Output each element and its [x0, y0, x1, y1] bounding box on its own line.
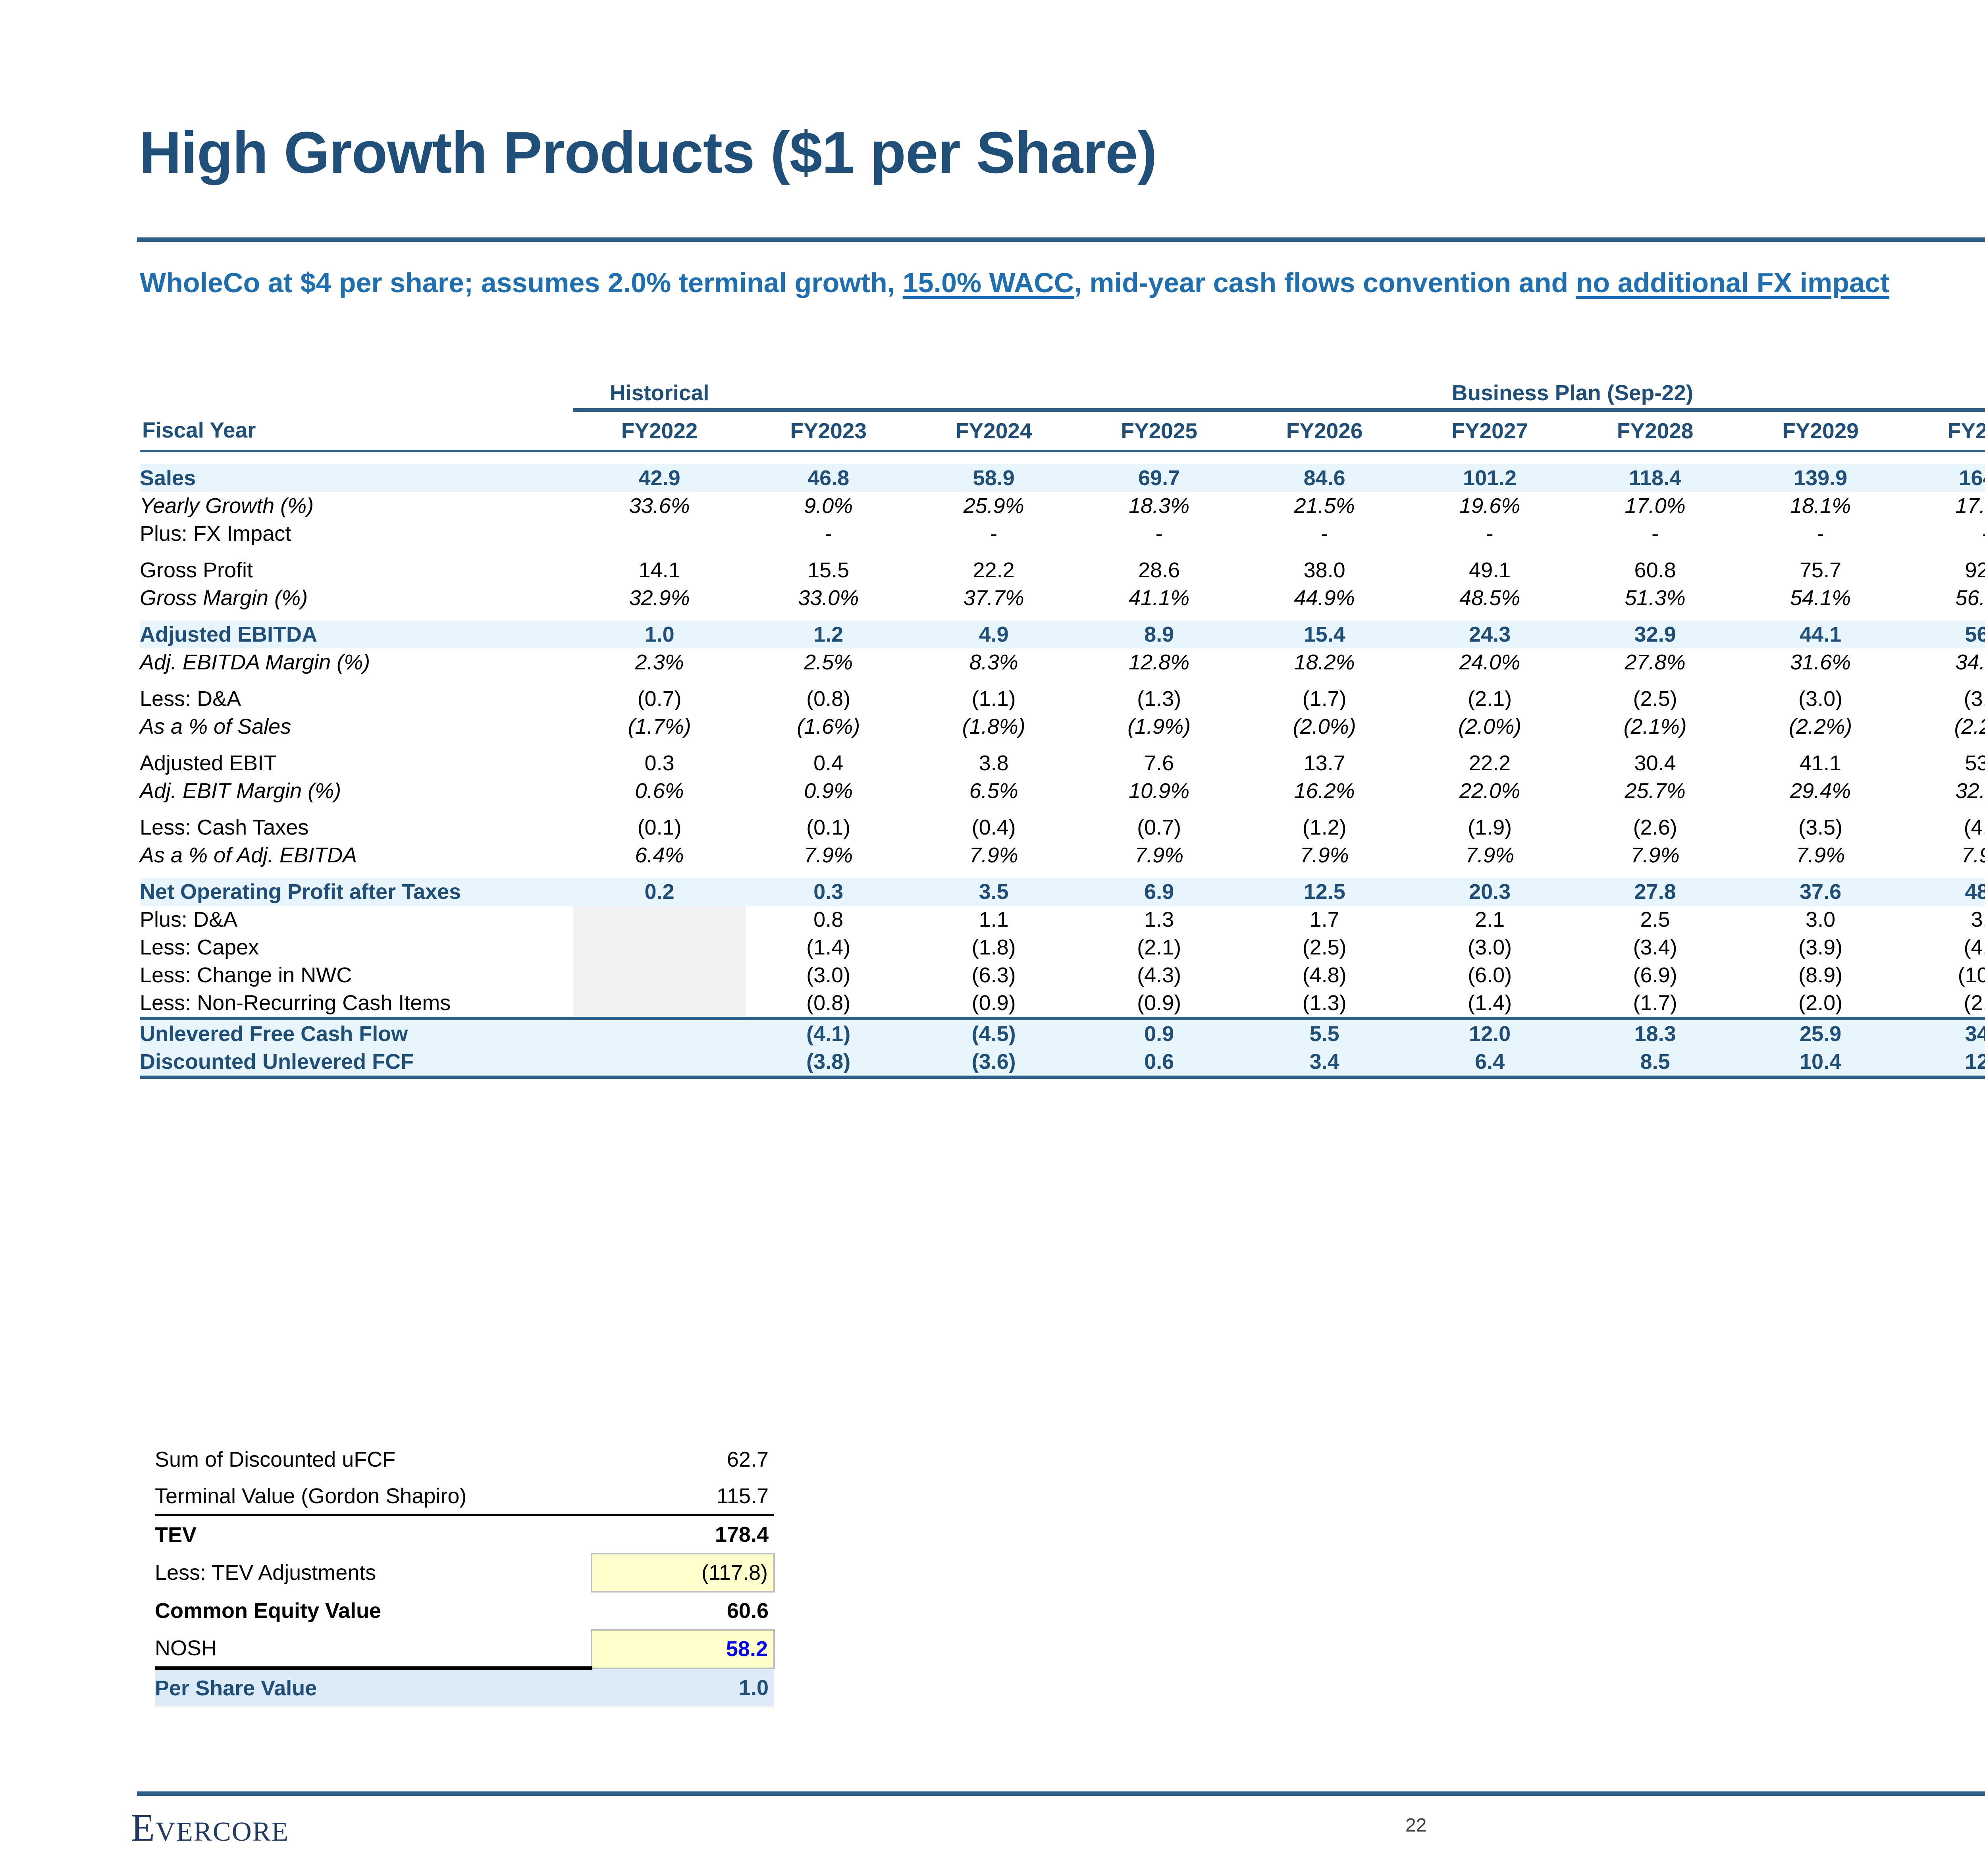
cell-fy2025: 69.7 — [1076, 464, 1241, 492]
col-header-fy2030: FY2030 — [1903, 410, 1985, 451]
cell-fy2030: 48.6 — [1903, 878, 1985, 906]
cell-fy2023: 46.8 — [746, 464, 911, 492]
table-row: Less: D&A(0.7)(0.8)(1.1)(1.3)(1.7)(2.1)(… — [140, 685, 1985, 713]
cell-fy2030: 56.3% — [1903, 584, 1985, 612]
valuation-row: Common Equity Value60.6 — [155, 1592, 774, 1630]
cell-fy2023: 7.9% — [746, 841, 911, 869]
table-row: Sales42.946.858.969.784.6101.2118.4139.9… — [140, 464, 1985, 492]
cell-fy2029: (2.0) — [1738, 989, 1903, 1018]
cell-fy2025: 6.9 — [1076, 878, 1241, 906]
table-row: Gross Profit14.115.522.228.638.049.160.8… — [140, 556, 1985, 584]
cell-fy2030: 17.4% — [1903, 492, 1985, 520]
valuation-row: TEV178.4 — [155, 1515, 774, 1554]
cell-fy2028: - — [1573, 520, 1738, 548]
cell-fy2028: 7.9% — [1573, 841, 1738, 869]
valuation-value: 60.6 — [592, 1592, 774, 1630]
table-row: Adj. EBIT Margin (%)0.6%0.9%6.5%10.9%16.… — [140, 777, 1985, 805]
col-header-fy2029: FY2029 — [1738, 410, 1903, 451]
row-label: Adjusted EBITDA — [140, 621, 573, 648]
cell-fy2024: (4.5) — [911, 1018, 1076, 1048]
row-spacer — [140, 805, 1985, 814]
valuation-row: Per Share Value1.0 — [155, 1668, 774, 1707]
row-label: Unlevered Free Cash Flow — [140, 1018, 573, 1048]
cell-fy2022 — [573, 989, 746, 1018]
valuation-value: 178.4 — [592, 1515, 774, 1554]
cell-fy2029: 44.1 — [1738, 621, 1903, 648]
cell-fy2029: (8.9) — [1738, 961, 1903, 989]
cell-fy2030: 7.9% — [1903, 841, 1985, 869]
valuation-row: Sum of Discounted uFCF62.7 — [155, 1441, 774, 1478]
cell-fy2030: 56.7 — [1903, 621, 1985, 648]
cell-fy2030: (2.4) — [1903, 989, 1985, 1018]
valuation-label: NOSH — [155, 1630, 592, 1668]
cell-fy2022: 0.6% — [573, 777, 746, 805]
cell-fy2025: (0.9) — [1076, 989, 1241, 1018]
row-label: Plus: FX Impact — [140, 520, 573, 548]
table-row: Plus: FX Impact---------- — [140, 520, 1985, 548]
cell-fy2024: 58.9 — [911, 464, 1076, 492]
cell-fy2022: 6.4% — [573, 841, 746, 869]
cell-fy2030: 92.6 — [1903, 556, 1985, 584]
cell-fy2029: 25.9 — [1738, 1018, 1903, 1048]
row-spacer — [140, 548, 1985, 556]
cell-fy2027: 19.6% — [1407, 492, 1572, 520]
col-header-fy2027: FY2027 — [1407, 410, 1572, 451]
row-spacer — [140, 676, 1985, 685]
cell-fy2026: 5.5 — [1242, 1018, 1407, 1048]
cell-fy2029: 41.1 — [1738, 749, 1903, 777]
col-header-fy2022: FY2022 — [573, 410, 746, 451]
cell-fy2022: 33.6% — [573, 492, 746, 520]
cell-fy2027: (3.0) — [1407, 933, 1572, 961]
cell-fy2023: (1.4) — [746, 933, 911, 961]
cell-fy2024: - — [911, 520, 1076, 548]
footer-divider — [137, 1791, 1985, 1796]
cell-fy2030: 34.5% — [1903, 648, 1985, 676]
group-header-business-plan: Business Plan (Sep-22) — [746, 377, 1985, 410]
cell-fy2022 — [573, 933, 746, 961]
row-label: Sales — [140, 464, 573, 492]
cell-fy2023: 0.4 — [746, 749, 911, 777]
evercore-logo: Evercore — [131, 1806, 289, 1850]
valuation-value: 115.7 — [592, 1478, 774, 1515]
row-spacer — [140, 612, 1985, 621]
cell-fy2030: 53.1 — [1903, 749, 1985, 777]
cell-fy2029: (3.0) — [1738, 685, 1903, 713]
cell-fy2023: 33.0% — [746, 584, 911, 612]
cell-fy2022 — [573, 1048, 746, 1077]
cell-fy2023: (3.8) — [746, 1048, 911, 1077]
cell-fy2028: 51.3% — [1573, 584, 1738, 612]
valuation-label: Common Equity Value — [155, 1592, 592, 1630]
table-row: Unlevered Free Cash Flow(4.1)(4.5)0.95.5… — [140, 1018, 1985, 1048]
cell-fy2024: 8.3% — [911, 648, 1076, 676]
valuation-label: Terminal Value (Gordon Shapiro) — [155, 1478, 592, 1515]
cell-fy2029: 139.9 — [1738, 464, 1903, 492]
cell-fy2028: 17.0% — [1573, 492, 1738, 520]
col-header-fy2024: FY2024 — [911, 410, 1076, 451]
cell-fy2028: (2.1%) — [1573, 713, 1738, 740]
valuation-label: TEV — [155, 1515, 592, 1554]
cell-fy2027: 49.1 — [1407, 556, 1572, 584]
valuation-value: 62.7 — [592, 1441, 774, 1478]
cell-fy2026: 12.5 — [1242, 878, 1407, 906]
cell-fy2029: 75.7 — [1738, 556, 1903, 584]
cell-fy2024: (0.9) — [911, 989, 1076, 1018]
cell-fy2028: 18.3 — [1573, 1018, 1738, 1048]
cell-fy2026: 84.6 — [1242, 464, 1407, 492]
cell-fy2026: 18.2% — [1242, 648, 1407, 676]
cell-fy2026: 15.4 — [1242, 621, 1407, 648]
cell-fy2025: 10.9% — [1076, 777, 1241, 805]
cell-fy2024: (1.8%) — [911, 713, 1076, 740]
dcf-table: HistoricalBusiness Plan (Sep-22)CAGR '22… — [140, 377, 1985, 1079]
cell-fy2030: (2.2%) — [1903, 713, 1985, 740]
col-header-fy2026: FY2026 — [1242, 410, 1407, 451]
cell-fy2026: 44.9% — [1242, 584, 1407, 612]
row-label: Less: Cash Taxes — [140, 814, 573, 841]
cell-fy2025: 8.9 — [1076, 621, 1241, 648]
row-spacer — [140, 740, 1985, 749]
cell-fy2022: (0.1) — [573, 814, 746, 841]
cell-fy2027: - — [1407, 520, 1572, 548]
cell-fy2027: (6.0) — [1407, 961, 1572, 989]
col-header-fy2025: FY2025 — [1076, 410, 1241, 451]
cell-fy2022 — [573, 1018, 746, 1048]
row-label: Adj. EBITDA Margin (%) — [140, 648, 573, 676]
table-row: Less: Non-Recurring Cash Items(0.8)(0.9)… — [140, 989, 1985, 1018]
valuation-row: Terminal Value (Gordon Shapiro)115.7 — [155, 1478, 774, 1515]
cell-fy2022 — [573, 961, 746, 989]
col-header-fiscal-year: Fiscal Year — [140, 410, 573, 451]
cell-fy2026: 21.5% — [1242, 492, 1407, 520]
cell-fy2030: 3.6 — [1903, 906, 1985, 933]
cell-fy2030: (4.5) — [1903, 814, 1985, 841]
cell-fy2025: (1.9%) — [1076, 713, 1241, 740]
cell-fy2027: 24.3 — [1407, 621, 1572, 648]
cell-fy2025: (2.1) — [1076, 933, 1241, 961]
row-label: Plus: D&A — [140, 906, 573, 933]
cell-fy2022: 2.3% — [573, 648, 746, 676]
cell-fy2027: (1.4) — [1407, 989, 1572, 1018]
cell-fy2025: (1.3) — [1076, 685, 1241, 713]
row-label: Gross Margin (%) — [140, 584, 573, 612]
cell-fy2023: 15.5 — [746, 556, 911, 584]
table-row: Less: Capex(1.4)(1.8)(2.1)(2.5)(3.0)(3.4… — [140, 933, 1985, 961]
cell-fy2023: (0.1) — [746, 814, 911, 841]
slide-canvas: High Growth Products ($1 per Share) Whol… — [0, 0, 1985, 1876]
cell-fy2022 — [573, 520, 746, 548]
cell-fy2027: 48.5% — [1407, 584, 1572, 612]
cell-fy2028: 25.7% — [1573, 777, 1738, 805]
cell-fy2028: 30.4 — [1573, 749, 1738, 777]
cell-fy2023: (0.8) — [746, 989, 911, 1018]
cell-fy2028: 118.4 — [1573, 464, 1738, 492]
cell-fy2023: (1.6%) — [746, 713, 911, 740]
subtitle: WholeCo at $4 per share; assumes 2.0% te… — [140, 267, 1889, 299]
cell-fy2023: (0.8) — [746, 685, 911, 713]
table-row: Net Operating Profit after Taxes0.20.33.… — [140, 878, 1985, 906]
group-header-row: HistoricalBusiness Plan (Sep-22)CAGR '22… — [140, 377, 1985, 410]
cell-fy2027: 2.1 — [1407, 906, 1572, 933]
cell-fy2030: (10.6) — [1903, 961, 1985, 989]
cell-fy2026: (1.2) — [1242, 814, 1407, 841]
cell-fy2030: 32.3% — [1903, 777, 1985, 805]
cell-fy2026: - — [1242, 520, 1407, 548]
cell-fy2028: 32.9 — [1573, 621, 1738, 648]
cell-fy2022: 0.2 — [573, 878, 746, 906]
cell-fy2025: (4.3) — [1076, 961, 1241, 989]
row-label: Less: Change in NWC — [140, 961, 573, 989]
cell-fy2027: 20.3 — [1407, 878, 1572, 906]
valuation-value[interactable]: (117.8) — [592, 1554, 774, 1592]
cell-fy2025: 12.8% — [1076, 648, 1241, 676]
cell-fy2027: (1.9) — [1407, 814, 1572, 841]
row-label: Yearly Growth (%) — [140, 492, 573, 520]
row-label: Discounted Unlevered FCF — [140, 1048, 573, 1077]
cell-fy2022: 42.9 — [573, 464, 746, 492]
cell-fy2022: 32.9% — [573, 584, 746, 612]
row-label: Gross Profit — [140, 556, 573, 584]
row-spacer — [140, 869, 1985, 878]
table-row: Less: Change in NWC(3.0)(6.3)(4.3)(4.8)(… — [140, 961, 1985, 989]
cell-fy2022: 14.1 — [573, 556, 746, 584]
cell-fy2023: 2.5% — [746, 648, 911, 676]
cell-fy2026: 13.7 — [1242, 749, 1407, 777]
table-row: Gross Margin (%)32.9%33.0%37.7%41.1%44.9… — [140, 584, 1985, 612]
valuation-row: Less: TEV Adjustments(117.8) — [155, 1554, 774, 1592]
page-title: High Growth Products ($1 per Share) — [139, 119, 1157, 187]
cell-fy2026: 38.0 — [1242, 556, 1407, 584]
cell-fy2029: 18.1% — [1738, 492, 1903, 520]
cell-fy2023: (4.1) — [746, 1018, 911, 1048]
table-row: Discounted Unlevered FCF(3.8)(3.6)0.63.4… — [140, 1048, 1985, 1077]
cell-fy2026: (1.3) — [1242, 989, 1407, 1018]
cell-fy2022 — [573, 906, 746, 933]
row-label: Less: D&A — [140, 685, 573, 713]
cell-fy2023: 0.9% — [746, 777, 911, 805]
cell-fy2028: (3.4) — [1573, 933, 1738, 961]
cell-fy2024: (1.1) — [911, 685, 1076, 713]
cell-fy2027: (2.0%) — [1407, 713, 1572, 740]
cell-fy2024: 7.9% — [911, 841, 1076, 869]
cell-fy2026: (2.5) — [1242, 933, 1407, 961]
cell-fy2027: 24.0% — [1407, 648, 1572, 676]
row-label: Net Operating Profit after Taxes — [140, 878, 573, 906]
group-header-blank — [140, 377, 573, 410]
cell-fy2024: 3.8 — [911, 749, 1076, 777]
header-spacer — [140, 451, 1985, 464]
year-header-row: Fiscal YearFY2022FY2023FY2024FY2025FY202… — [140, 410, 1985, 451]
cell-fy2024: 3.5 — [911, 878, 1076, 906]
row-label: Adj. EBIT Margin (%) — [140, 777, 573, 805]
cell-fy2027: 22.0% — [1407, 777, 1572, 805]
table-row: Adj. EBITDA Margin (%)2.3%2.5%8.3%12.8%1… — [140, 648, 1985, 676]
cell-fy2027: 7.9% — [1407, 841, 1572, 869]
table-row: Plus: D&A0.81.11.31.72.12.53.03.64.24.8 — [140, 906, 1985, 933]
cell-fy2029: (3.9) — [1738, 933, 1903, 961]
cell-fy2029: 54.1% — [1738, 584, 1903, 612]
cell-fy2029: 10.4 — [1738, 1048, 1903, 1077]
cell-fy2029: 7.9% — [1738, 841, 1903, 869]
cell-fy2025: 0.6 — [1076, 1048, 1241, 1077]
valuation-label: Sum of Discounted uFCF — [155, 1441, 592, 1478]
cell-fy2027: 22.2 — [1407, 749, 1572, 777]
cell-fy2023: 9.0% — [746, 492, 911, 520]
cell-fy2028: 27.8% — [1573, 648, 1738, 676]
row-label: Adjusted EBIT — [140, 749, 573, 777]
table-row: Yearly Growth (%)33.6%9.0%25.9%18.3%21.5… — [140, 492, 1985, 520]
cell-fy2026: (1.7) — [1242, 685, 1407, 713]
cell-fy2030: - — [1903, 520, 1985, 548]
cell-fy2029: 37.6 — [1738, 878, 1903, 906]
cell-fy2028: (1.7) — [1573, 989, 1738, 1018]
cell-fy2030: 164.3 — [1903, 464, 1985, 492]
cell-fy2026: 1.7 — [1242, 906, 1407, 933]
subtitle-emphasis-3: no additional FX impact — [1576, 267, 1889, 298]
cell-fy2024: 25.9% — [911, 492, 1076, 520]
cell-fy2024: 6.5% — [911, 777, 1076, 805]
cell-fy2027: (2.1) — [1407, 685, 1572, 713]
cell-fy2025: 7.9% — [1076, 841, 1241, 869]
table-row: Adjusted EBITDA1.01.24.98.915.424.332.94… — [140, 621, 1985, 648]
cell-fy2028: (2.5) — [1573, 685, 1738, 713]
valuation-label: Per Share Value — [155, 1668, 592, 1707]
valuation-summary-table: Sum of Discounted uFCF62.7Terminal Value… — [155, 1441, 775, 1706]
cell-fy2022: 0.3 — [573, 749, 746, 777]
valuation-label: Less: TEV Adjustments — [155, 1554, 592, 1592]
cell-fy2022: (0.7) — [573, 685, 746, 713]
cell-fy2024: (0.4) — [911, 814, 1076, 841]
cell-fy2026: (2.0%) — [1242, 713, 1407, 740]
cell-fy2029: 3.0 — [1738, 906, 1903, 933]
cell-fy2025: 1.3 — [1076, 906, 1241, 933]
cell-fy2025: 18.3% — [1076, 492, 1241, 520]
valuation-value[interactable]: 58.2 — [592, 1630, 774, 1668]
row-label: Less: Non-Recurring Cash Items — [140, 989, 573, 1018]
cell-fy2025: 28.6 — [1076, 556, 1241, 584]
subtitle-emphasis-1: 15.0% WACC — [903, 267, 1074, 298]
cell-fy2024: (3.6) — [911, 1048, 1076, 1077]
cell-fy2030: (4.4) — [1903, 933, 1985, 961]
cell-fy2030: 12.2 — [1903, 1048, 1985, 1077]
cell-fy2024: (6.3) — [911, 961, 1076, 989]
row-label: As a % of Adj. EBITDA — [140, 841, 573, 869]
valuation-row: NOSH58.2 — [155, 1630, 774, 1668]
cell-fy2029: (2.2%) — [1738, 713, 1903, 740]
title-divider — [137, 237, 1985, 242]
cell-fy2025: - — [1076, 520, 1241, 548]
subtitle-text-2: , mid-year cash flows convention and — [1074, 267, 1576, 298]
cell-fy2028: 27.8 — [1573, 878, 1738, 906]
cell-fy2027: 12.0 — [1407, 1018, 1572, 1048]
row-label: As a % of Sales — [140, 713, 573, 740]
cell-fy2028: 60.8 — [1573, 556, 1738, 584]
cell-fy2030: (3.6) — [1903, 685, 1985, 713]
cell-fy2023: (3.0) — [746, 961, 911, 989]
cell-fy2025: 7.6 — [1076, 749, 1241, 777]
group-header-historical: Historical — [573, 377, 746, 410]
cell-fy2026: 7.9% — [1242, 841, 1407, 869]
table-row: Less: Cash Taxes(0.1)(0.1)(0.4)(0.7)(1.2… — [140, 814, 1985, 841]
cell-fy2024: (1.8) — [911, 933, 1076, 961]
cell-fy2024: 22.2 — [911, 556, 1076, 584]
cell-fy2026: (4.8) — [1242, 961, 1407, 989]
valuation-value: 1.0 — [592, 1668, 774, 1707]
cell-fy2024: 37.7% — [911, 584, 1076, 612]
cell-fy2023: 0.3 — [746, 878, 911, 906]
page-number: 22 — [1405, 1814, 1426, 1836]
cell-fy2022: (1.7%) — [573, 713, 746, 740]
cell-fy2028: 2.5 — [1573, 906, 1738, 933]
cell-fy2029: - — [1738, 520, 1903, 548]
cell-fy2029: (3.5) — [1738, 814, 1903, 841]
cell-fy2027: 101.2 — [1407, 464, 1572, 492]
cell-fy2022: 1.0 — [573, 621, 746, 648]
table-row: As a % of Sales(1.7%)(1.6%)(1.8%)(1.9%)(… — [140, 713, 1985, 740]
cell-fy2025: 0.9 — [1076, 1018, 1241, 1048]
cell-fy2028: 8.5 — [1573, 1048, 1738, 1077]
cell-fy2028: (2.6) — [1573, 814, 1738, 841]
cell-fy2030: 34.9 — [1903, 1018, 1985, 1048]
cell-fy2026: 3.4 — [1242, 1048, 1407, 1077]
cell-fy2028: (6.9) — [1573, 961, 1738, 989]
col-header-fy2028: FY2028 — [1573, 410, 1738, 451]
subtitle-text-0: WholeCo at $4 per share; assumes 2.0% te… — [140, 267, 903, 298]
cell-fy2027: 6.4 — [1407, 1048, 1572, 1077]
table-row: Adjusted EBIT0.30.43.87.613.722.230.441.… — [140, 749, 1985, 777]
cell-fy2024: 1.1 — [911, 906, 1076, 933]
row-label: Less: Capex — [140, 933, 573, 961]
cell-fy2026: 16.2% — [1242, 777, 1407, 805]
cell-fy2025: (0.7) — [1076, 814, 1241, 841]
cell-fy2029: 29.4% — [1738, 777, 1903, 805]
cell-fy2023: 0.8 — [746, 906, 911, 933]
cell-fy2023: - — [746, 520, 911, 548]
table-row: As a % of Adj. EBITDA6.4%7.9%7.9%7.9%7.9… — [140, 841, 1985, 869]
cell-fy2025: 41.1% — [1076, 584, 1241, 612]
col-header-fy2023: FY2023 — [746, 410, 911, 451]
cell-fy2029: 31.6% — [1738, 648, 1903, 676]
cell-fy2023: 1.2 — [746, 621, 911, 648]
cell-fy2024: 4.9 — [911, 621, 1076, 648]
